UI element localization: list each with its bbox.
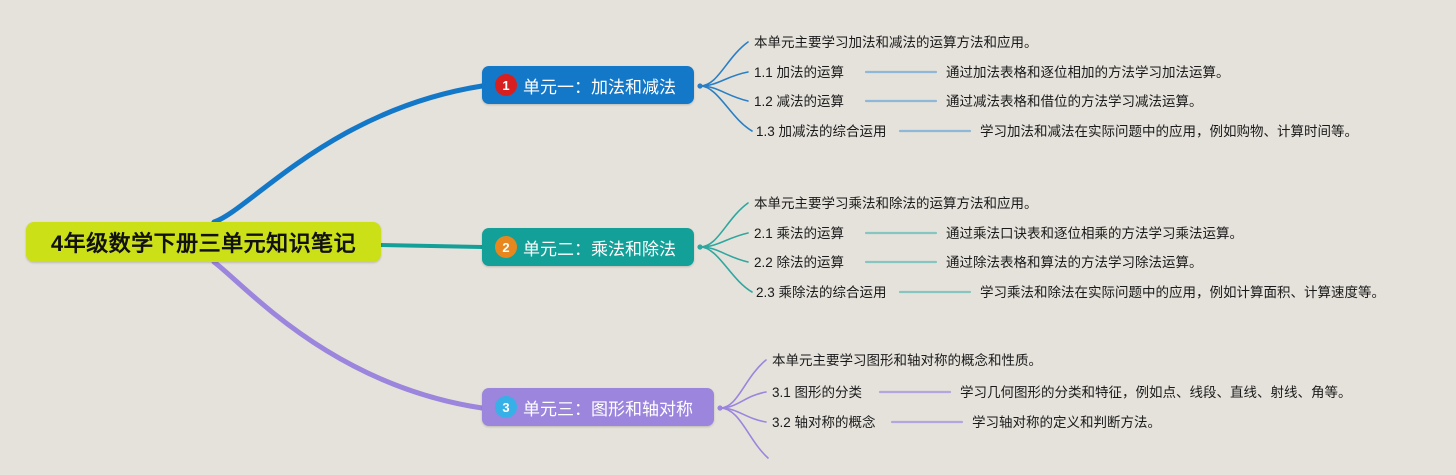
topic-desc-2-2: 通过除法表格和算法的方法学习除法运算。: [946, 256, 1203, 270]
topic-title-3-1[interactable]: 3.1 图形的分类: [772, 386, 862, 400]
summary-unit-1: 本单元主要学习加法和减法的运算方法和应用。: [754, 36, 1038, 50]
topic-links-unit-3: [880, 392, 962, 422]
topic-title-3-2[interactable]: 3.2 轴对称的概念: [772, 416, 876, 430]
summary-unit-2: 本单元主要学习乘法和除法的运算方法和应用。: [754, 197, 1038, 211]
topic-title-2-3[interactable]: 2.3 乘除法的综合运用: [756, 286, 887, 300]
branch-label-unit-1: 单元一：加法和减法: [523, 73, 676, 98]
fanout-hub-unit-1: [697, 83, 702, 88]
fanout-unit-3: [720, 360, 768, 458]
topic-desc-2-3: 学习乘法和除法在实际问题中的应用，例如计算面积、计算速度等。: [980, 286, 1385, 300]
fanout-hub-unit-3: [717, 405, 722, 410]
topic-desc-1-3: 学习加法和减法在实际问题中的应用，例如购物、计算时间等。: [980, 125, 1358, 139]
topic-title-2-1[interactable]: 2.1 乘法的运算: [754, 227, 844, 241]
branch-node-unit-2[interactable]: 2 单元二：乘法和除法: [482, 228, 694, 266]
root-node[interactable]: 4年级数学下册三单元知识笔记: [26, 222, 381, 262]
mindmap-canvas: 4年级数学下册三单元知识笔记 1 单元一：加法和减法 本单元主要学习加法和减法的…: [0, 0, 1456, 475]
summary-unit-3: 本单元主要学习图形和轴对称的概念和性质。: [772, 354, 1042, 368]
topic-desc-1-1: 通过加法表格和逐位相加的方法学习加法运算。: [946, 66, 1230, 80]
branch-node-unit-1[interactable]: 1 单元一：加法和减法: [482, 66, 694, 104]
fanout-unit-2: [700, 203, 752, 292]
topic-desc-1-2: 通过减法表格和借位的方法学习减法运算。: [946, 95, 1203, 109]
topic-desc-3-2: 学习轴对称的定义和判断方法。: [972, 416, 1161, 430]
topic-title-2-2[interactable]: 2.2 除法的运算: [754, 256, 844, 270]
branch-label-unit-3: 单元三：图形和轴对称: [523, 395, 693, 420]
topic-title-1-2[interactable]: 1.2 减法的运算: [754, 95, 844, 109]
trunk-link-unit-3: [214, 262, 482, 408]
branch-label-unit-2: 单元二：乘法和除法: [523, 235, 676, 260]
topic-desc-3-1: 学习几何图形的分类和特征，例如点、线段、直线、射线、角等。: [960, 386, 1352, 400]
root-node-label: 4年级数学下册三单元知识笔记: [51, 226, 356, 258]
topic-title-1-1[interactable]: 1.1 加法的运算: [754, 66, 844, 80]
topic-desc-2-1: 通过乘法口诀表和逐位相乘的方法学习乘法运算。: [946, 227, 1243, 241]
trunk-link-unit-1: [214, 86, 482, 222]
fanout-hub-unit-2: [697, 244, 702, 249]
fanout-unit-1: [700, 42, 752, 131]
trunk-link-unit-2: [381, 245, 482, 247]
branch-node-unit-3[interactable]: 3 单元三：图形和轴对称: [482, 388, 714, 426]
branch-badge-unit-2: 2: [495, 236, 517, 258]
branch-badge-unit-3: 3: [495, 396, 517, 418]
topic-title-1-3[interactable]: 1.3 加减法的综合运用: [756, 125, 887, 139]
branch-badge-unit-1: 1: [495, 74, 517, 96]
